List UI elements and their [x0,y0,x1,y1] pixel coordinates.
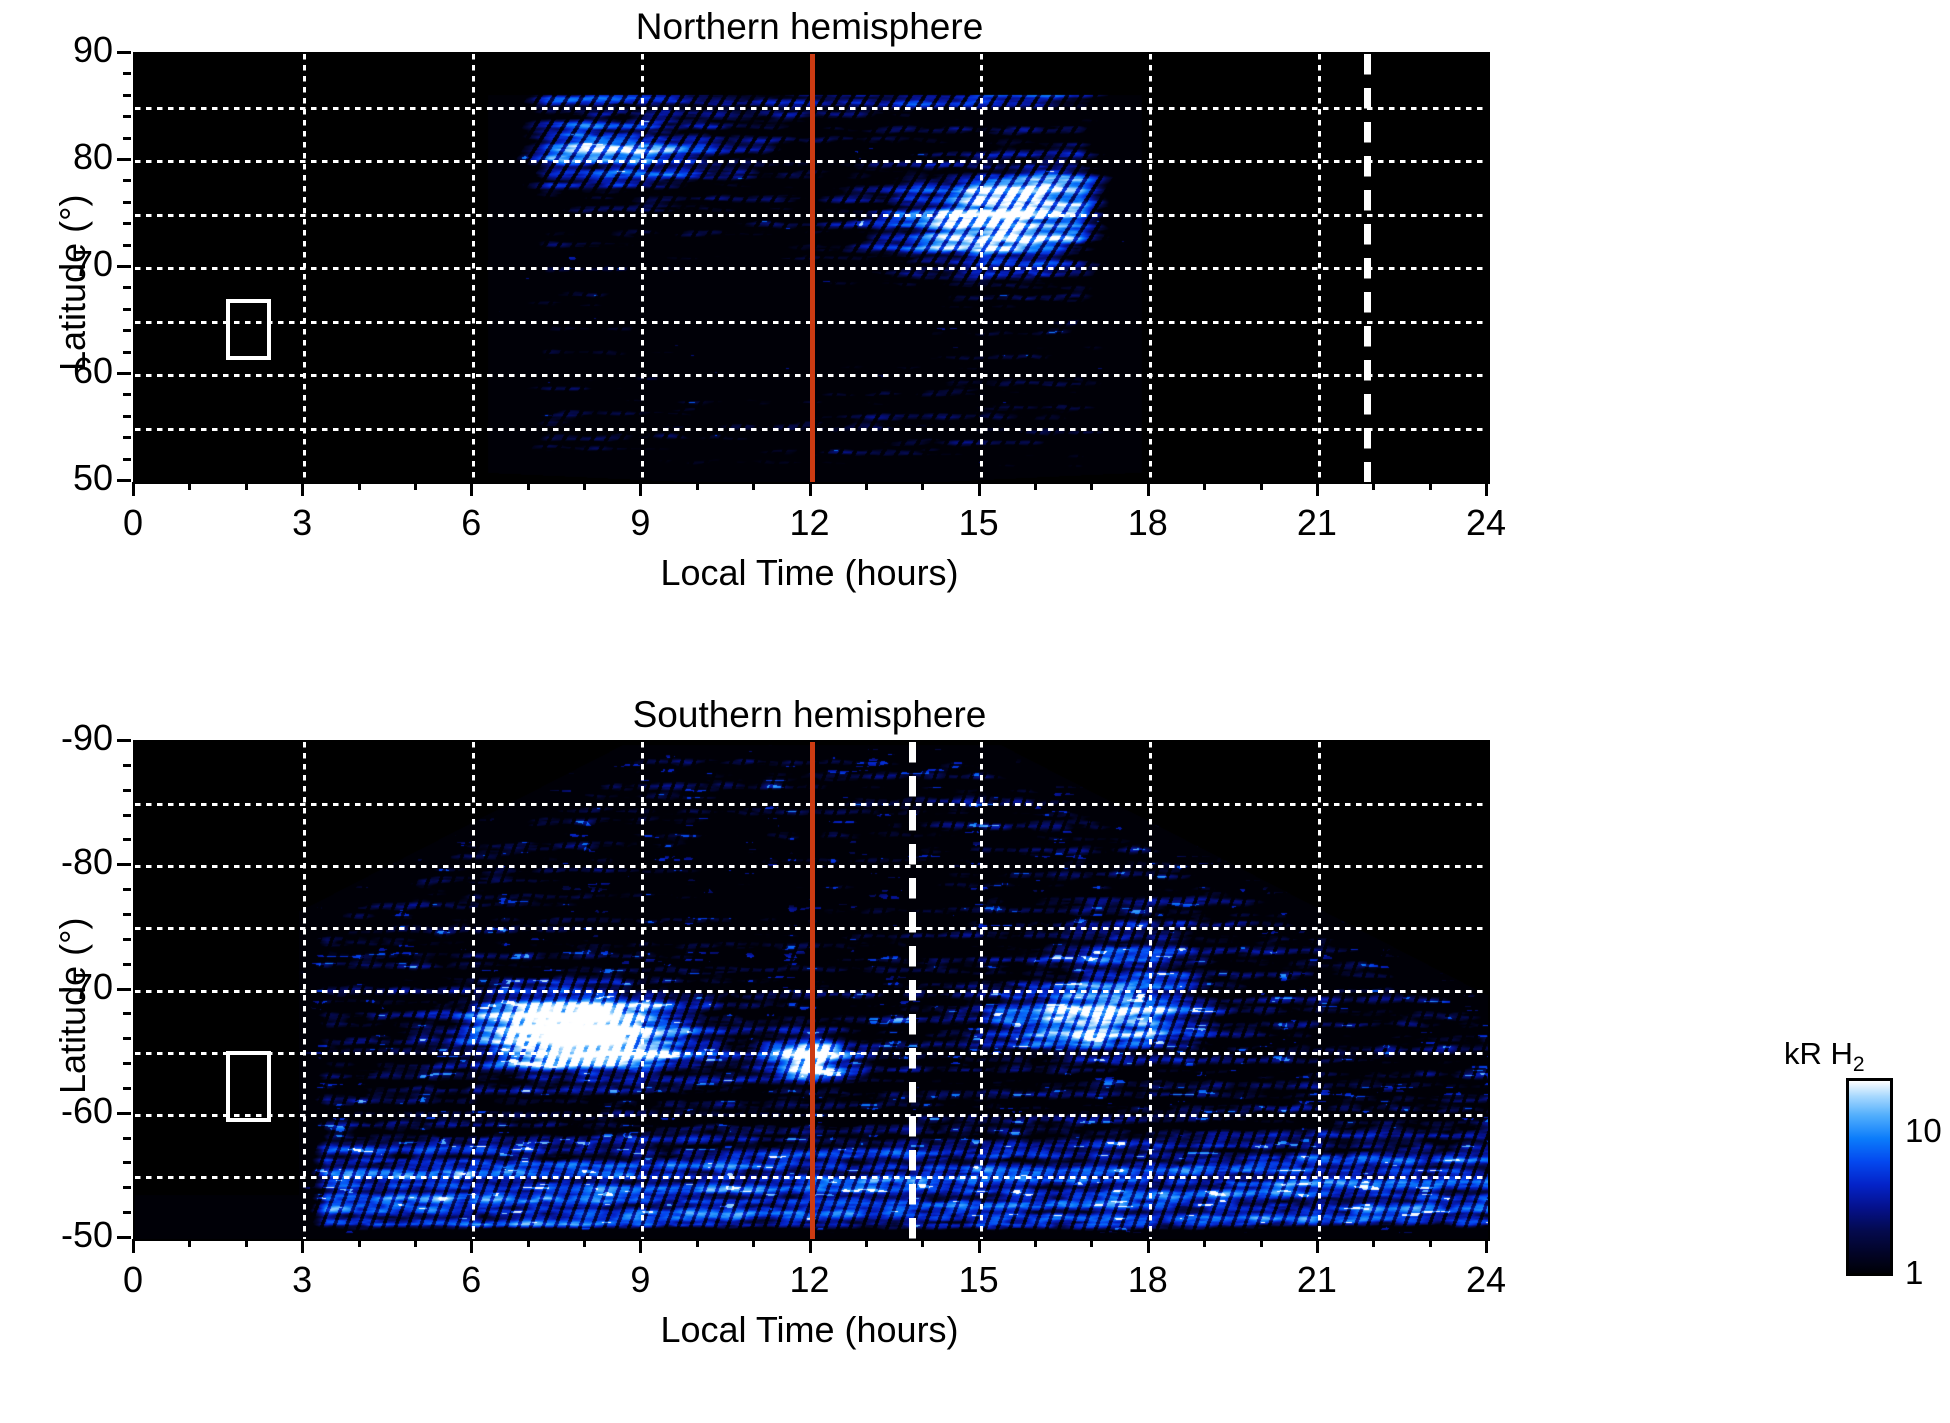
x-axis-label-south: Local Time (hours) [133,1309,1486,1351]
axis-tick [123,913,131,916]
colorbar-title-text: kR H [1784,1036,1853,1071]
axis-tick [123,1087,131,1090]
axis-tick [245,1239,248,1247]
axis-tick [123,1012,131,1015]
axis-tick [470,1239,473,1253]
panel-southern-hemisphere: Southern hemisphere -50-60-70-80-90 0369… [0,0,1950,1423]
axis-tick [188,1239,191,1247]
axis-tick [1260,1239,1263,1247]
axis-tick [123,938,131,941]
colorbar-title: kR H2 [1784,1036,1865,1072]
y-tick-label: -60 [3,1090,113,1132]
axis-tick [123,1161,131,1164]
y-tick-label: -90 [3,717,113,759]
axis-tick [123,1037,131,1040]
axis-tick [123,814,131,817]
x-tick-label: 6 [421,1259,521,1301]
axis-tick [123,1137,131,1140]
axis-tick [921,1239,924,1247]
x-tick-label: 0 [83,1259,183,1301]
axis-tick [1372,1239,1375,1247]
colorbar-tick-label: 10 [1905,1112,1942,1150]
axis-tick [1090,1239,1093,1247]
axis-tick [358,1239,361,1247]
axis-tick [117,739,131,742]
x-tick-label: 24 [1436,1259,1536,1301]
axis-tick [1485,1239,1488,1253]
axis-tick [123,963,131,966]
axis-tick [639,1239,642,1253]
colorbar-gradient [1846,1078,1893,1276]
axis-tick [117,1236,131,1239]
axis-tick [809,1239,812,1253]
colorbar-title-subscript: 2 [1853,1053,1865,1076]
axis-tick [123,789,131,792]
x-tick-label: 21 [1267,1259,1367,1301]
x-tick-label: 3 [252,1259,352,1301]
pixel-size-box-south [226,1051,271,1122]
axis-tick [117,988,131,991]
plot-area-south [133,740,1490,1241]
y-tick-label: -80 [3,841,113,883]
axis-tick [123,764,131,767]
axis-tick [752,1239,755,1247]
axis-tick [1147,1239,1150,1253]
axis-tick [978,1239,981,1253]
x-tick-label: 15 [929,1259,1029,1301]
axis-tick [1316,1239,1319,1253]
axis-tick [865,1239,868,1247]
axis-tick [123,1186,131,1189]
x-tick-label: 18 [1098,1259,1198,1301]
axis-tick [1429,1239,1432,1247]
axis-tick [1203,1239,1206,1247]
colorbar-tick-label: 1 [1905,1254,1923,1292]
dashed-marker-line-south [909,742,916,1239]
axis-tick [1034,1239,1037,1247]
panel-title-south: Southern hemisphere [133,694,1486,736]
y-tick-label: -50 [3,1214,113,1256]
axis-tick [414,1239,417,1247]
x-tick-label: 9 [590,1259,690,1301]
axis-tick [123,838,131,841]
axis-tick [123,888,131,891]
y-axis-label-south: Latitude (°) [52,917,94,1093]
axis-tick [132,1239,135,1253]
axis-tick [527,1239,530,1247]
axis-tick [123,1062,131,1065]
axis-tick [301,1239,304,1253]
axis-tick [117,863,131,866]
axis-tick [123,1211,131,1214]
axis-tick [696,1239,699,1247]
figure-root: Northern hemisphere 5060708090 036912151… [0,0,1950,1423]
axis-tick [117,1112,131,1115]
noon-marker-line-south [810,742,815,1239]
x-tick-label: 12 [760,1259,860,1301]
axis-tick [583,1239,586,1247]
